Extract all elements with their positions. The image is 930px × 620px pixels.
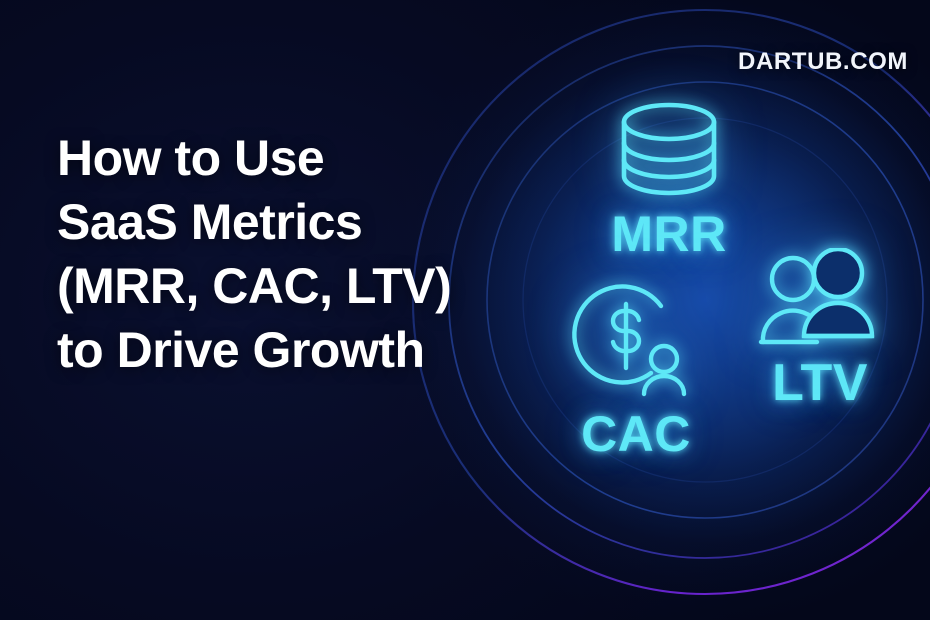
metric-ltv: LTV (755, 248, 885, 409)
title-line-2: SaaS Metrics (57, 190, 512, 254)
brand-watermark: DARTUB.COM (738, 48, 908, 76)
title-line-3: (MRR, CAC, LTV) (57, 254, 512, 318)
metric-cac: CAC (568, 280, 704, 459)
page-title: How to Use SaaS Metrics (MRR, CAC, LTV) … (57, 126, 512, 382)
metric-mrr-label: MRR (611, 209, 726, 259)
users-group-icon (755, 248, 885, 355)
dollar-coin-customer-icon (568, 280, 704, 407)
metric-cac-label: CAC (581, 409, 691, 459)
metric-ltv-label: LTV (772, 357, 868, 409)
metric-mrr: MRR (610, 100, 728, 259)
title-line-1: How to Use (57, 126, 512, 190)
title-line-4: to Drive Growth (57, 318, 512, 382)
database-stack-icon (610, 100, 728, 203)
cover-canvas: DARTUB.COM How to Use SaaS Metrics (MRR,… (0, 0, 930, 620)
